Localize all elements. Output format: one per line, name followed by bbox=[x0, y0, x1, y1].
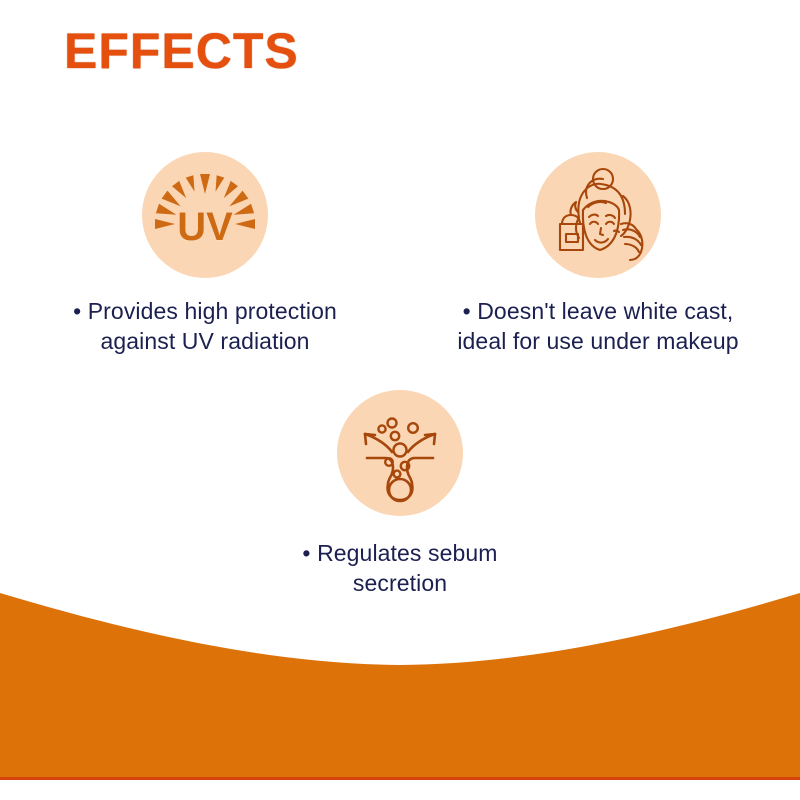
wave-shape bbox=[0, 593, 800, 779]
feature-item-uv-protection: UV • Provides high protection against UV… bbox=[20, 152, 390, 357]
feature-item-sebum-regulation: • Regulates sebum secretion bbox=[215, 390, 585, 599]
woman-applying-cream-icon bbox=[535, 152, 661, 278]
sebum-pore-icon bbox=[337, 390, 463, 516]
feature-caption: • Regulates sebum secretion bbox=[215, 538, 585, 599]
wave-bottom-edge bbox=[0, 777, 800, 780]
feature-item-no-white-cast: • Doesn't leave white cast, ideal for us… bbox=[412, 152, 784, 357]
feature-caption: • Doesn't leave white cast, ideal for us… bbox=[412, 296, 784, 357]
uv-icon-label: UV bbox=[177, 205, 233, 249]
effects-infographic: EFFECTS bbox=[0, 0, 800, 800]
feature-caption: • Provides high protection against UV ra… bbox=[20, 296, 390, 357]
page-title: EFFECTS bbox=[64, 26, 299, 76]
uv-sun-icon: UV bbox=[142, 152, 268, 278]
